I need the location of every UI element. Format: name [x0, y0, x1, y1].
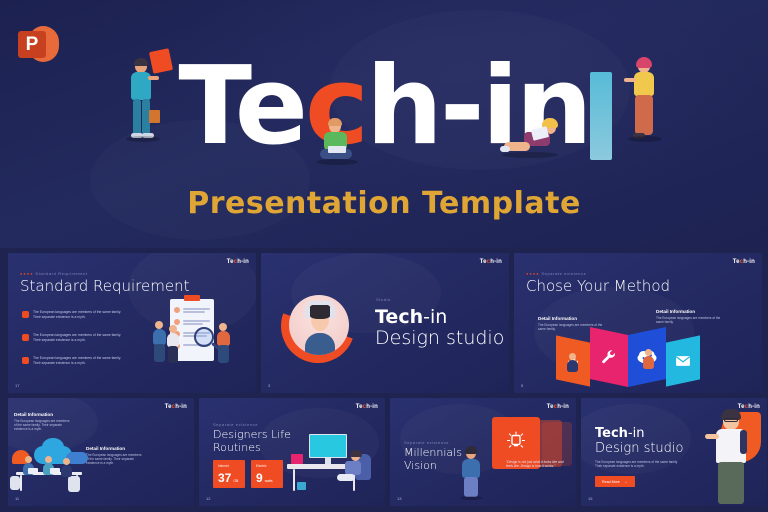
slide-logo: Tech-in [547, 404, 569, 410]
slide-logo: Tech-in [227, 259, 249, 265]
slide-page-number: 11 [15, 496, 19, 501]
gift-box-icon [602, 369, 616, 381]
stat-value: 37 [218, 471, 231, 485]
detail-body-b: The European languages are members of th… [86, 453, 144, 466]
slide-thumbnail-detail-information[interactable]: Tech-in Detail Information The European … [8, 398, 194, 506]
stat-unit: watts [265, 479, 273, 483]
bullet-text: The European languages are members of th… [33, 356, 125, 365]
quote-text: “Design is not just what it looks like a… [506, 460, 570, 469]
detail-heading-right: Detail Information [656, 309, 695, 314]
slide-logo: Tech-in [733, 259, 755, 265]
clipboard-line [183, 308, 210, 310]
clipboard-line [183, 320, 210, 322]
slide-eyebrow: Separate existence [213, 422, 258, 427]
wrench-icon [601, 349, 617, 365]
stat-label: Internet [218, 464, 240, 468]
detail-heading-b: Detail Information [86, 446, 125, 451]
hero-subtitle: Presentation Template [0, 186, 768, 221]
hero-banner: P Tech-in [0, 0, 768, 248]
slide-thumbnail-designers-life-routines[interactable]: Tech-in Separate existence Designers Lif… [199, 398, 385, 506]
slide-logo: Tech-in [165, 404, 187, 410]
slide-title: Standard Requirement [20, 277, 189, 295]
detail-heading-a: Detail Information [14, 412, 53, 417]
slide-figure [642, 349, 656, 381]
chair [10, 476, 20, 490]
bullet-icon [22, 357, 29, 364]
slide-eyebrow: ●●●● Standard Requirement [20, 271, 88, 276]
slide-title-line2: Vision [404, 459, 437, 472]
slide-title-line1: Tech-in [375, 306, 447, 328]
stat-electric: Electric 9watts [251, 460, 283, 488]
laptop-icon [291, 454, 303, 464]
slide-page-number: 3 [268, 383, 270, 388]
detail-body-right: The European languages are members of th… [656, 316, 722, 324]
slide-title-line2: Design studio [375, 327, 504, 349]
slide-figure-person [707, 410, 753, 506]
slide-eyebrow: Separate existence [404, 440, 449, 445]
slide-figure-viewer [460, 448, 482, 498]
slide-title-line1: Millennials [404, 446, 462, 459]
hero-figure-reclining [500, 118, 564, 166]
slide-grid-row-1: Tech-in ●●●● Standard Requirement Standa… [8, 253, 762, 393]
slide-thumbnail-standard-requirement[interactable]: Tech-in ●●●● Standard Requirement Standa… [8, 253, 256, 393]
cloud-icon-top [42, 438, 64, 456]
arrow-right-icon: → [624, 479, 628, 484]
stat-internet: Internet 37GB [213, 460, 245, 488]
detail-body-a: The European languages are members of th… [14, 419, 72, 432]
slide-title: Chose Your Method [526, 277, 670, 295]
slide-figure [215, 323, 233, 365]
slide-thumbnail-tech-in-design-studio[interactable]: Tech-in Tech-in Design studio The Europe… [581, 398, 767, 506]
slide-page-number: 15 [588, 496, 592, 501]
stat-label: Electric [256, 464, 278, 468]
laptop-icon [50, 468, 60, 474]
slide-thumbnail-design-studio-circle[interactable]: Tech-in Studio Tech-in Design studio 3 [261, 253, 509, 393]
hero-figure-standing [628, 58, 662, 160]
slide-title-line1: Designers Life [213, 428, 291, 441]
slide-title-line2: Routines [213, 441, 261, 454]
slide-thumbnail-chose-your-method[interactable]: Tech-in ●●●● Separate existence Chose Yo… [514, 253, 762, 393]
laptop-icon [28, 468, 38, 474]
clipboard-line [183, 311, 205, 313]
slide-figure [60, 458, 74, 484]
detail-heading-left: Detail Information [538, 316, 577, 321]
lightbulb-icon [506, 431, 526, 456]
bullet-text: The European languages are members of th… [33, 333, 125, 342]
stat-value: 9 [256, 471, 263, 485]
slide-figure [566, 353, 580, 383]
slide-page-number: 12 [206, 496, 210, 501]
slide-grid-row-2: Tech-in Detail Information The European … [8, 398, 767, 506]
hero-easel [590, 72, 612, 160]
slide-figure [166, 325, 182, 365]
slide-thumbnail-millennials-vision[interactable]: Tech-in Separate existence Millennials V… [390, 398, 576, 506]
hero-figure-seated [316, 120, 358, 168]
slide-logo: Tech-in [356, 404, 378, 410]
hero-title-pre: Te [178, 44, 305, 169]
slide-figure-designer [339, 452, 365, 492]
clipboard-line [183, 323, 203, 325]
bullet-text: The European languages are members of th… [33, 310, 125, 319]
bullet-icon [22, 334, 29, 341]
slide-page-number: 17 [15, 383, 19, 388]
slide-logo: Tech-in [480, 259, 502, 265]
clipboard-dot [174, 307, 180, 313]
slide-bullet: The European languages are members of th… [22, 333, 125, 342]
slide-eyebrow: ●●●● Separate existence [526, 271, 586, 276]
slide-bullet: The European languages are members of th… [22, 310, 125, 319]
read-more-button[interactable]: Read More → [595, 476, 635, 487]
mail-icon [676, 356, 691, 367]
slide-body: The European languages are members of th… [595, 460, 681, 468]
slide-title-line1: Tech-in [595, 426, 644, 441]
avatar [289, 295, 349, 355]
trash-bin-icon [297, 482, 306, 490]
desk-leg [293, 469, 295, 491]
slide-eyebrow: Studio [376, 297, 391, 302]
slide-bullet: The European languages are members of th… [22, 356, 125, 365]
slide-page-number: 5 [521, 383, 523, 388]
clipboard-clip [184, 295, 200, 301]
slide-page-number: 13 [397, 496, 401, 501]
slide-title-line2: Design studio [595, 441, 684, 456]
panel-cyan[interactable] [666, 335, 700, 386]
read-more-label: Read More [602, 480, 620, 484]
stat-unit: GB [233, 479, 238, 483]
bullet-icon [22, 311, 29, 318]
